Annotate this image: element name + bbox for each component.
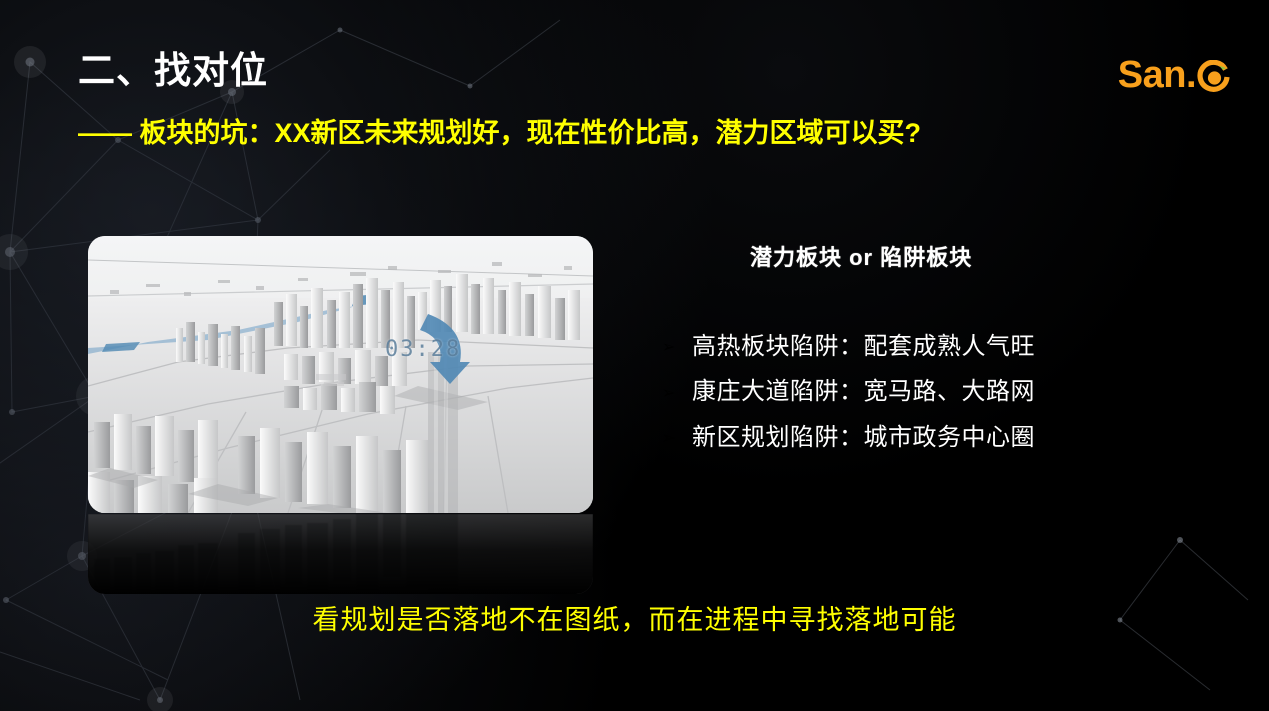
content-column: 潜力板块 or 陷阱板块 ➢ 高热板块陷阱：配套成熟人气旺 ➢ 康庄大道陷阱：宽… xyxy=(640,240,1200,470)
list-item: ➢ 高热板块陷阱：配套成熟人气旺 xyxy=(662,334,1200,360)
page-subtitle: —— 板块的坑：XX新区未来规划好，现在性价比高，潜力区域可以买? xyxy=(78,120,921,147)
circle-c-mark-icon xyxy=(1197,60,1231,94)
page-title: 二、找对位 xyxy=(78,52,268,89)
footer-caption: 看规划是否落地不在图纸，而在进程中寻找落地可能 xyxy=(0,598,1269,637)
video-timer: 03:28 xyxy=(385,337,461,362)
list-item: ➢ 新区规划陷阱：城市政务中心圈 xyxy=(662,425,1200,451)
list-item: ➢ 康庄大道陷阱：宽马路、大路网 xyxy=(662,379,1200,405)
list-item-label: 新区规划陷阱：城市政务中心圈 xyxy=(692,425,1035,451)
slide-header: 二、找对位 —— 板块的坑：XX新区未来规划好，现在性价比高，潜力区域可以买? … xyxy=(0,0,1269,175)
city-model-illustration xyxy=(88,236,593,513)
video-preview-panel[interactable]: 03:28 xyxy=(88,236,593,513)
brand-logo: San. xyxy=(1118,50,1231,100)
section-heading: 潜力板块 or 陷阱板块 xyxy=(750,240,1200,272)
list-item-label: 高热板块陷阱：配套成熟人气旺 xyxy=(692,334,1035,360)
bullet-list: ➢ 高热板块陷阱：配套成熟人气旺 ➢ 康庄大道陷阱：宽马路、大路网 ➢ 新区规划… xyxy=(662,334,1200,451)
arrow-bullet-icon: ➢ xyxy=(662,383,692,403)
list-item-label: 康庄大道陷阱：宽马路、大路网 xyxy=(692,379,1035,405)
arrow-bullet-icon: ➢ xyxy=(662,428,692,448)
brand-logo-text: San. xyxy=(1118,56,1196,94)
video-panel-reflection xyxy=(88,514,593,594)
slide-canvas: 二、找对位 —— 板块的坑：XX新区未来规划好，现在性价比高，潜力区域可以买? … xyxy=(0,0,1269,711)
arrow-bullet-icon: ➢ xyxy=(662,337,692,357)
